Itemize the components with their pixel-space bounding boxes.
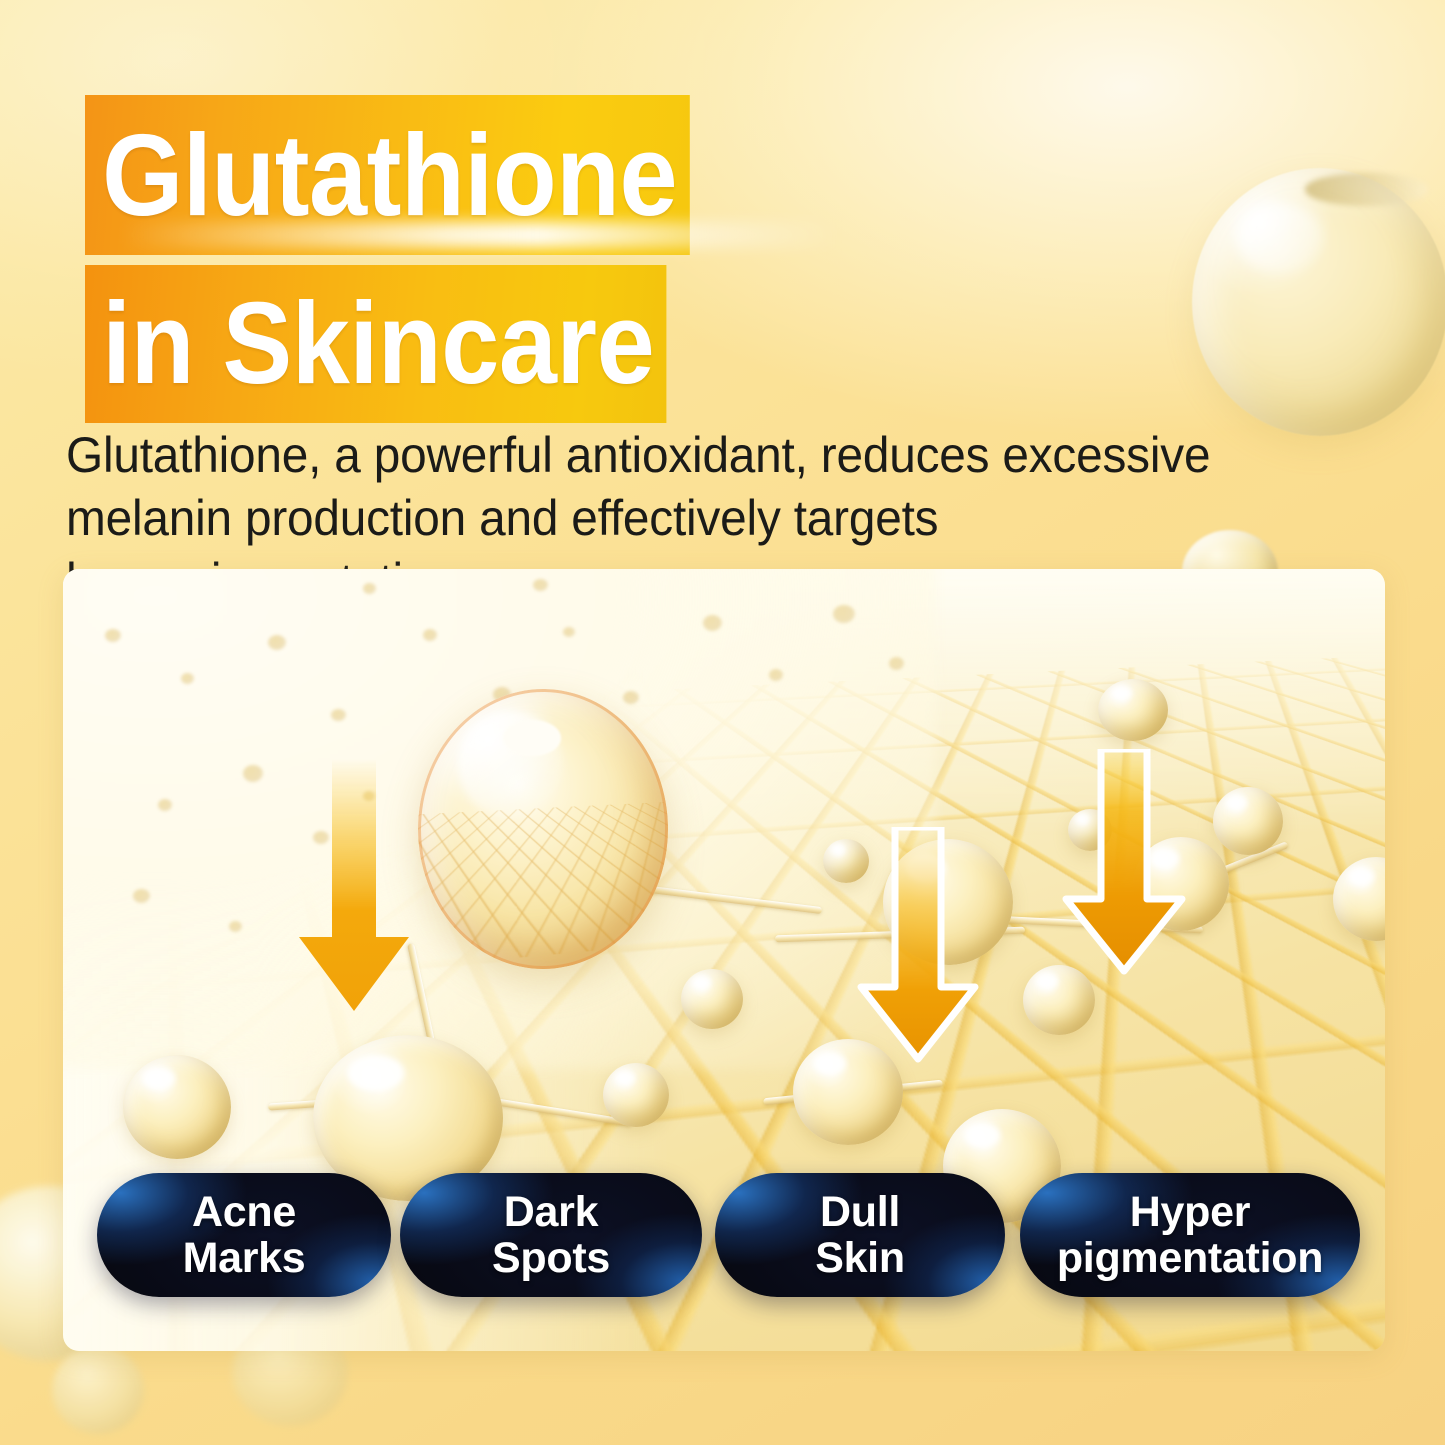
title-line-1: Glutathione <box>85 95 690 255</box>
benefit-line-2: Spots <box>492 1235 610 1281</box>
molecule-sphere <box>123 1055 231 1159</box>
hero-image-panel: Acne Marks Dark Spots Dull Skin Hyper pi… <box>63 569 1385 1351</box>
benefit-line-2: Skin <box>815 1235 905 1281</box>
benefit-pill-label: Dark Spots <box>492 1189 610 1282</box>
hero-oil-drop <box>418 689 668 969</box>
benefit-pill-dull-skin[interactable]: Dull Skin <box>715 1173 1005 1297</box>
benefit-line-1: Dull <box>815 1189 905 1235</box>
molecule-sphere <box>603 1063 669 1127</box>
benefit-line-1: Acne <box>183 1189 306 1235</box>
absorption-arrow-2 <box>853 827 983 1067</box>
benefit-pill-label: Acne Marks <box>183 1189 306 1282</box>
poster-canvas: Glutathione in Skincare Glutathione, a p… <box>0 0 1445 1445</box>
page-title: Glutathione in Skincare <box>85 95 757 423</box>
benefit-line-1: Hyper <box>1057 1189 1323 1235</box>
benefit-pill-dark-spots[interactable]: Dark Spots <box>400 1173 702 1297</box>
title-line-1-row: Glutathione <box>85 95 757 255</box>
benefit-line-2: Marks <box>183 1235 306 1281</box>
oil-drop-bottom-left-small-icon <box>52 1346 144 1434</box>
oil-drop-large-icon <box>1192 168 1445 436</box>
molecule-sphere <box>1098 679 1168 741</box>
hero-drop-rim <box>418 689 668 969</box>
benefit-line-2: pigmentation <box>1057 1235 1323 1281</box>
benefit-pill-label: Hyper pigmentation <box>1057 1189 1323 1282</box>
benefit-pill-acne-marks[interactable]: Acne Marks <box>97 1173 391 1297</box>
title-line-2-row: in Skincare <box>85 255 757 423</box>
absorption-arrow-3 <box>1058 749 1190 979</box>
absorption-arrow-1 <box>291 759 417 1019</box>
benefit-pill-hyperpigmentation[interactable]: Hyper pigmentation <box>1020 1173 1360 1297</box>
title-line-2: in Skincare <box>85 265 667 423</box>
molecule-sphere <box>1213 787 1283 855</box>
benefit-pill-label: Dull Skin <box>815 1189 905 1282</box>
benefit-line-1: Dark <box>492 1189 610 1235</box>
molecule-sphere <box>681 969 743 1029</box>
